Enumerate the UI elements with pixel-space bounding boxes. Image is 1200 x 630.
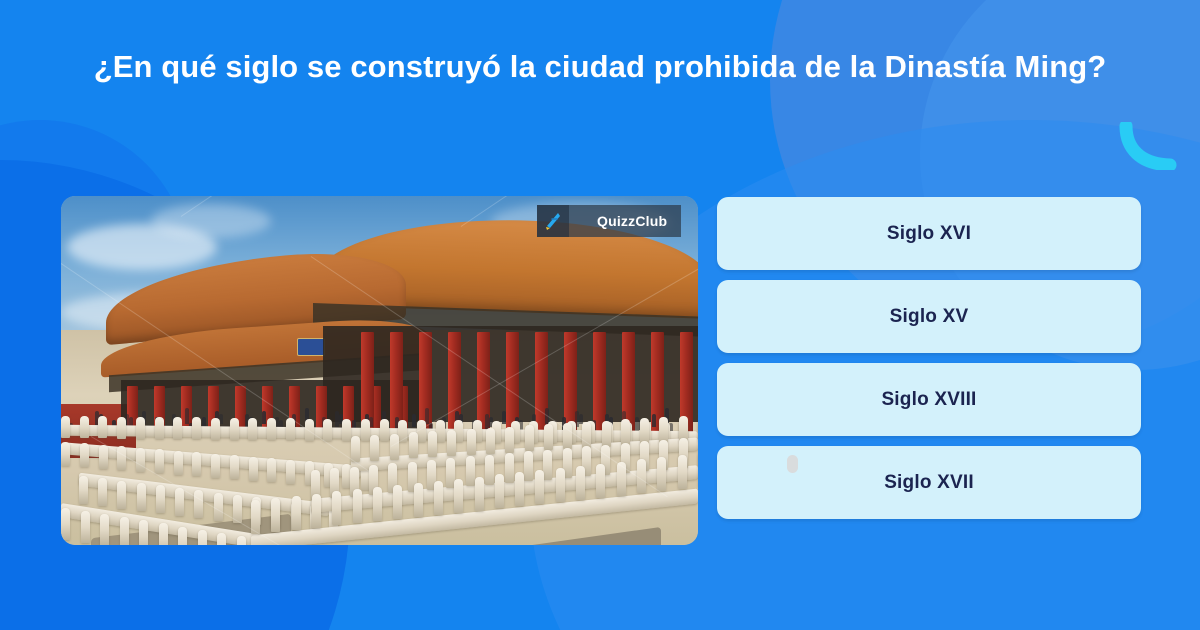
photo-balustrade-post xyxy=(192,452,201,476)
photo-balustrade-post xyxy=(267,458,276,482)
photo-balustrade-post xyxy=(175,488,184,516)
photo-balustrade-post xyxy=(271,498,280,532)
answer-option-3[interactable]: Siglo XVIII xyxy=(717,363,1141,436)
photo-balustrade-post xyxy=(428,431,437,457)
photo-balustrade-post xyxy=(155,417,164,439)
photo-balustrade-post xyxy=(332,491,341,525)
photo-balustrade-post xyxy=(79,476,88,504)
photo-balustrade-post xyxy=(237,536,246,545)
photo-balustrade-post xyxy=(292,496,301,530)
photo-balustrade-post xyxy=(323,419,332,441)
answer-list: Siglo XVI Siglo XV Siglo XVIII Siglo XVI… xyxy=(717,197,1141,519)
quiz-card: ¿En qué siglo se construyó la ciudad pro… xyxy=(0,0,1200,630)
photo-balustrade-post xyxy=(286,460,295,484)
answer-option-label: Siglo XV xyxy=(890,306,969,328)
photo-balustrade-post xyxy=(267,418,276,440)
photo-balustrade-post xyxy=(361,419,370,441)
watermark-label: QuizzClub xyxy=(569,213,681,229)
answer-option-label: Siglo XVI xyxy=(887,223,971,245)
decor-crescent-icon xyxy=(1118,122,1180,170)
photo-balustrade-post xyxy=(485,455,494,485)
photo-balustrade-post xyxy=(81,511,90,543)
photo-balustrade-post xyxy=(159,523,168,545)
answer-option-1[interactable]: Siglo XVI xyxy=(717,197,1141,270)
photo-balustrade-post xyxy=(173,417,182,439)
question-image: {} QuizzClub xyxy=(61,196,698,545)
photo-balustrade-post xyxy=(156,485,165,513)
answer-option-4[interactable]: Siglo XVII xyxy=(717,446,1141,519)
photo-visitor xyxy=(185,408,189,424)
photo-balustrade-post xyxy=(535,470,544,504)
photo-balustrade-post xyxy=(286,418,295,440)
watermark-badge: QuizzClub xyxy=(537,205,681,237)
answer-option-2[interactable]: Siglo XV xyxy=(717,280,1141,353)
photo-balustrade-post xyxy=(192,417,201,439)
photo-balustrade-post xyxy=(249,457,258,481)
photo-balustrade-post xyxy=(351,436,360,462)
photo-balustrade-post xyxy=(61,442,70,466)
scroll-nub[interactable] xyxy=(787,455,798,473)
photo-balustrade-post xyxy=(576,466,585,500)
photo-balustrade-post xyxy=(117,417,126,439)
photo-balustrade-post xyxy=(312,494,321,528)
photo-balustrade-post xyxy=(100,514,109,545)
photo-balustrade-post xyxy=(434,481,443,515)
photo-balustrade-post xyxy=(98,416,107,438)
photo-balustrade-post xyxy=(556,468,565,502)
photo-balustrade-post xyxy=(505,453,514,483)
photo-balustrade-post xyxy=(211,454,220,478)
photo-balustrade-post xyxy=(136,417,145,439)
photo-balustrade-post xyxy=(409,432,418,458)
photo-balustrade-post xyxy=(505,427,514,453)
photo-balustrade-post xyxy=(380,419,389,441)
photo-balustrade-post xyxy=(117,481,126,509)
photo-balustrade-post xyxy=(211,418,220,440)
photo-balustrade-post xyxy=(61,508,70,540)
question-title: ¿En qué siglo se construyó la ciudad pro… xyxy=(60,44,1140,90)
photo-balustrade-post xyxy=(621,419,630,445)
photo-balustrade-post xyxy=(198,530,207,545)
photo-balustrade-post xyxy=(117,446,126,470)
photo-balustrade-post xyxy=(436,420,445,442)
photo-balustrade-post xyxy=(486,428,495,454)
photo-balustrade-post xyxy=(524,451,533,481)
photo-balustrade-post xyxy=(495,474,504,508)
photo-balustrade-post xyxy=(414,483,423,517)
photo-balustrade-post xyxy=(174,451,183,475)
photo-balustrade-post xyxy=(61,416,70,438)
photo-visitor xyxy=(412,414,416,427)
photo-plaque xyxy=(297,338,325,356)
photo-balustrade-post xyxy=(80,416,89,438)
photo-balustrade-post xyxy=(155,449,164,473)
photo-balustrade-post xyxy=(602,421,611,447)
photo-balustrade-post xyxy=(230,455,239,479)
photo-balustrade-post xyxy=(99,445,108,469)
photo-visitor xyxy=(502,411,506,424)
photo-balustrade-post xyxy=(370,435,379,461)
photo-balustrade-post xyxy=(393,485,402,519)
photo-balustrade-post xyxy=(194,490,203,518)
photo-balustrade-post xyxy=(467,429,476,455)
photo-balustrade-post xyxy=(139,520,148,545)
photo-balustrade-post xyxy=(178,527,187,545)
photo-balustrade-post xyxy=(80,443,89,467)
photo-balustrade-post xyxy=(230,418,239,440)
photo-visitor xyxy=(262,411,266,424)
photo-balustrade-post xyxy=(466,456,475,486)
photo-balustrade-post xyxy=(678,455,687,489)
photo-balustrade-post xyxy=(248,418,257,440)
photo-balustrade-post xyxy=(373,487,382,521)
photo-balustrade-post xyxy=(136,448,145,472)
photo-balustrade-post xyxy=(543,450,552,480)
photo-balustrade-post xyxy=(120,517,129,545)
photo-balustrade-post xyxy=(217,533,226,545)
photo-balustrade-post xyxy=(447,430,456,456)
photo-balustrade-post xyxy=(515,472,524,506)
photo-balustrade-post xyxy=(475,477,484,511)
photo-balustrade-post xyxy=(657,457,666,491)
quizzclub-logo-icon xyxy=(537,205,569,237)
photo-visitor xyxy=(652,414,656,427)
answer-option-label: Siglo XVII xyxy=(884,472,974,494)
photo-balustrade-post xyxy=(596,464,605,498)
answer-option-label: Siglo XVIII xyxy=(881,389,976,411)
photo-balustrade-post xyxy=(137,483,146,511)
photo-balustrade-post xyxy=(454,479,463,513)
photo-balustrade-post xyxy=(353,489,362,523)
photo-balustrade-post xyxy=(342,419,351,441)
photo-balustrade-post xyxy=(525,425,534,451)
photo-balustrade-post xyxy=(544,424,553,450)
photo-balustrade-post xyxy=(98,478,107,506)
